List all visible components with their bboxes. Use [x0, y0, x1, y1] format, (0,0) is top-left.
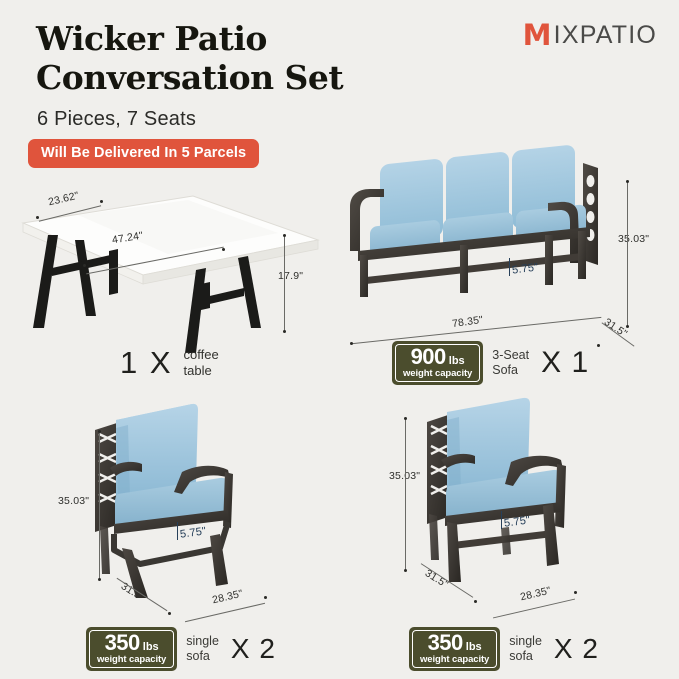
sofa-capacity-inner: 900 lbs weight capacity — [395, 344, 480, 382]
dim-line-chair1-cushion — [177, 522, 178, 540]
dim-line-chair2-height — [405, 419, 406, 571]
sofa-capacity-top: 900 lbs — [403, 346, 472, 368]
chair1-capacity-value: 350 — [105, 632, 140, 654]
tick-sofa-height-top — [626, 180, 629, 183]
three-seat-sofa-illustration — [340, 155, 640, 340]
chair1-name-line2: sofa — [186, 649, 210, 663]
dim-line-table-height — [284, 236, 285, 332]
chair2-quantity: X 2 — [554, 633, 599, 665]
brand-logo: M IXPATIO — [523, 21, 657, 50]
chair2-capacity-unit: lbs — [466, 642, 482, 653]
title-line-1: Wicker Patio — [36, 20, 436, 59]
coffee-table-label-row: 1 X coffee table — [120, 345, 219, 381]
chair1-capacity-unit: lbs — [143, 642, 159, 653]
dim-line-chair1-height — [99, 432, 100, 580]
brand-wordmark: IXPATIO — [554, 23, 657, 48]
chair2-name-line1: single — [509, 634, 542, 648]
chair2-piece-name: single sofa — [509, 634, 542, 664]
tick-chair1-height-bottom — [98, 578, 101, 581]
coffee-table-name-line1: coffee — [184, 347, 219, 362]
tick-chair2-height-top — [404, 417, 407, 420]
sofa-capacity-unit: lbs — [449, 356, 465, 367]
tick-sofa-depth-end — [597, 344, 600, 347]
chair1-name-line1: single — [186, 634, 219, 648]
infographic-canvas: Wicker Patio Conversation Set 6 Pieces, … — [0, 0, 679, 679]
chair2-capacity-label: weight capacity — [420, 655, 489, 665]
sofa-capacity-label: weight capacity — [403, 369, 472, 379]
sofa-quantity-row: 900 lbs weight capacity 3-Seat Sofa X 1 — [392, 341, 589, 385]
title-line-2: Conversation Set — [36, 59, 436, 98]
chair2-name-line2: sofa — [509, 649, 533, 663]
tick-table-width-end — [222, 248, 225, 251]
tick-sofa-width-start — [350, 342, 353, 345]
dim-line-sofa-cushion — [509, 258, 510, 276]
chair1-capacity-badge: 350 lbs weight capacity — [86, 627, 177, 671]
sofa-name-line1: 3-Seat — [492, 348, 529, 362]
delivery-badge: Will Be Delivered In 5 Parcels — [28, 139, 259, 168]
chair1-quantity-row: 350 lbs weight capacity single sofa X 2 — [86, 627, 276, 671]
sofa-capacity-badge: 900 lbs weight capacity — [392, 341, 483, 385]
coffee-table-name: coffee table — [184, 347, 219, 378]
sofa-quantity: X 1 — [541, 346, 589, 380]
dim-chair1-height: 35.03" — [58, 495, 89, 507]
tick-chair2-width-end — [574, 591, 577, 594]
chair1-capacity-top: 350 lbs — [97, 632, 166, 654]
chair1-capacity-inner: 350 lbs weight capacity — [89, 630, 174, 668]
tick-chair2-height-bottom — [404, 569, 407, 572]
tick-table-height-top — [283, 234, 286, 237]
subtitle: 6 Pieces, 7 Seats — [37, 108, 196, 131]
dim-sofa-height: 35.03" — [618, 233, 649, 245]
chair2-capacity-inner: 350 lbs weight capacity — [412, 630, 497, 668]
chair2-capacity-top: 350 lbs — [420, 632, 489, 654]
chair2-quantity-row: 350 lbs weight capacity single sofa X 2 — [409, 627, 599, 671]
tick-chair1-width-end — [264, 596, 267, 599]
tick-chair2-depth-end — [474, 600, 477, 603]
dim-line-chair2-cushion — [501, 511, 502, 529]
coffee-table-quantity: 1 X — [120, 345, 173, 381]
chair1-piece-name: single sofa — [186, 634, 219, 664]
coffee-table-name-line2: table — [184, 363, 212, 378]
tick-table-width-start — [83, 264, 86, 267]
sofa-capacity-value: 900 — [411, 346, 446, 368]
dim-table-height: 17.9" — [278, 270, 303, 282]
chair1-capacity-label: weight capacity — [97, 655, 166, 665]
sofa-name-line2: Sofa — [492, 363, 518, 377]
tick-table-depth-start — [36, 216, 39, 219]
sofa-piece-name: 3-Seat Sofa — [492, 348, 529, 378]
tick-table-height-bottom — [283, 330, 286, 333]
brand-m-icon: M — [523, 21, 553, 50]
single-sofa-left-illustration — [70, 398, 285, 608]
chair2-capacity-badge: 350 lbs weight capacity — [409, 627, 500, 671]
tick-chair1-depth-end — [168, 612, 171, 615]
page-title: Wicker Patio Conversation Set — [36, 20, 436, 97]
tick-chair1-height-top — [98, 430, 101, 433]
dim-line-sofa-height — [627, 182, 628, 327]
chair1-quantity: X 2 — [231, 633, 276, 665]
chair2-capacity-value: 350 — [428, 632, 463, 654]
tick-table-depth-end — [100, 200, 103, 203]
